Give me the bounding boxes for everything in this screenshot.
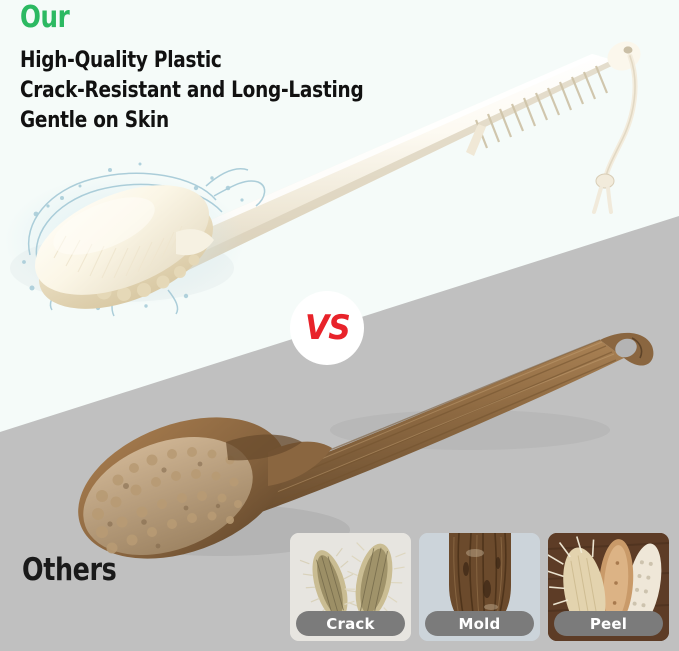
vs-badge: VS (290, 291, 364, 365)
vs-label: VS (305, 308, 350, 348)
defect-label-crack: Crack (296, 611, 405, 636)
defect-thumbnail-peel[interactable]: Peel (548, 533, 669, 641)
product-comparison-poster: Our High-Quality Plastic Crack-Resistant… (0, 0, 679, 651)
defect-thumbnail-crack[interactable]: Crack (290, 533, 411, 641)
feature-line-2: Crack-Resistant and Long-Lasting (20, 76, 373, 106)
defect-label-mold: Mold (425, 611, 534, 636)
our-eyebrow: Our (20, 2, 364, 34)
defect-thumbnail-mold[interactable]: Mold (419, 533, 540, 641)
feature-line-3: Gentle on Skin (20, 106, 373, 136)
defect-thumbnail-row: Crack (290, 533, 670, 643)
headline-block: Our High-Quality Plastic Crack-Resistant… (20, 2, 440, 137)
feature-line-1: High-Quality Plastic (20, 46, 373, 76)
others-label: Others (22, 552, 116, 588)
defect-label-peel: Peel (554, 611, 663, 636)
